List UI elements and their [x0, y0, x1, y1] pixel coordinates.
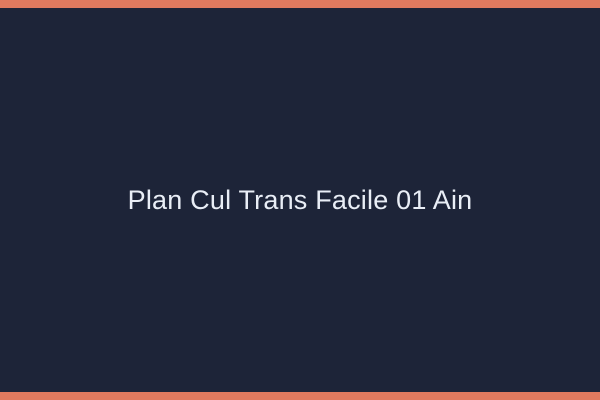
placeholder-banner: Plan Cul Trans Facile 01 Ain	[0, 0, 600, 400]
bottom-accent-bar	[0, 392, 600, 400]
banner-body: Plan Cul Trans Facile 01 Ain	[0, 8, 600, 392]
top-accent-bar	[0, 0, 600, 8]
page-title: Plan Cul Trans Facile 01 Ain	[128, 184, 473, 216]
